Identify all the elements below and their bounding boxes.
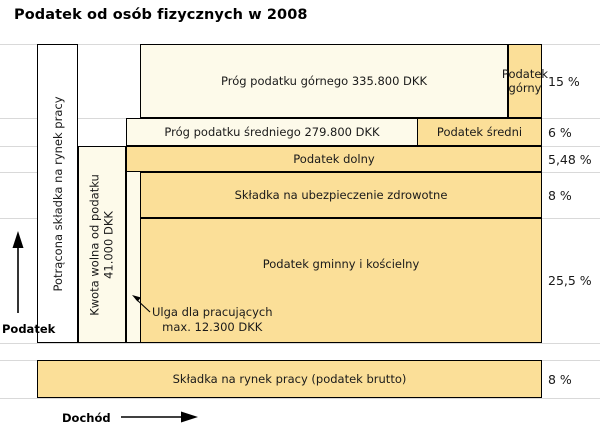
percent-podatek-gminny: 25,5 %	[548, 218, 592, 343]
employment-deduction-annotation-line2: max. 12.300 DKK	[152, 320, 272, 335]
percent-skladka-zdrowotna: 8 %	[548, 172, 572, 218]
band-podatek-gorny-label: Podatek górny	[502, 67, 548, 96]
arrow-right-icon	[121, 412, 198, 423]
gridline	[0, 398, 600, 399]
diagram-canvas: Podatek od osób fizycznych w 2008 Potrąc…	[0, 0, 600, 440]
band-podatek-sredni: Podatek średni	[417, 118, 542, 146]
x-axis-label: Dochód	[62, 411, 111, 425]
tax-free-allowance-column: Kwota wolna od podatku 41.000 DKK	[78, 146, 126, 343]
band-podatek-dolny: Podatek dolny	[126, 146, 542, 172]
band-prog-gorny-label: Próg podatku górnego 335.800 DKK	[221, 74, 427, 88]
gridline	[0, 343, 600, 344]
band-prog-sredni-label: Próg podatku średniego 279.800 DKK	[164, 125, 379, 139]
page-title: Podatek od osób fizycznych w 2008	[14, 7, 308, 23]
percent-podatek-dolny: 5,48 %	[548, 146, 592, 172]
band-podatek-sredni-label: Podatek średni	[437, 125, 522, 139]
bottom-bar-label: Składka na rynek pracy (podatek brutto)	[173, 372, 407, 386]
band-prog-gorny: Próg podatku górnego 335.800 DKK	[140, 44, 508, 118]
band-skladka-zdrowotna-label: Składka na ubezpieczenie zdrowotne	[235, 188, 448, 202]
percent-bottom-bar: 8 %	[548, 360, 572, 398]
tax-free-allowance-label: Kwota wolna od podatku 41.000 DKK	[88, 174, 117, 316]
percent-podatek-gorny: 15 %	[548, 44, 580, 118]
band-podatek-gorny: Podatek górny	[508, 44, 542, 118]
band-skladka-zdrowotna: Składka na ubezpieczenie zdrowotne	[140, 172, 542, 218]
y-axis-label: Podatek	[2, 322, 55, 336]
percent-podatek-sredni: 6 %	[548, 118, 572, 146]
labour-market-deduction-label: Potrącona składka na rynek pracy	[50, 96, 64, 291]
band-podatek-dolny-label: Podatek dolny	[293, 152, 374, 166]
labour-market-deduction-column: Potrącona składka na rynek pracy	[37, 44, 78, 343]
band-prog-sredni: Próg podatku średniego 279.800 DKK	[126, 118, 418, 146]
arrow-up-icon	[13, 231, 24, 313]
employment-deduction-strip	[126, 146, 141, 343]
bottom-bar-skladka-rynek-pracy: Składka na rynek pracy (podatek brutto)	[37, 360, 542, 398]
employment-deduction-annotation: Ulga dla pracujących max. 12.300 DKK	[152, 305, 272, 335]
employment-deduction-annotation-line1: Ulga dla pracujących	[152, 305, 272, 320]
band-podatek-gminny-label: Podatek gminny i kościelny	[263, 257, 420, 271]
